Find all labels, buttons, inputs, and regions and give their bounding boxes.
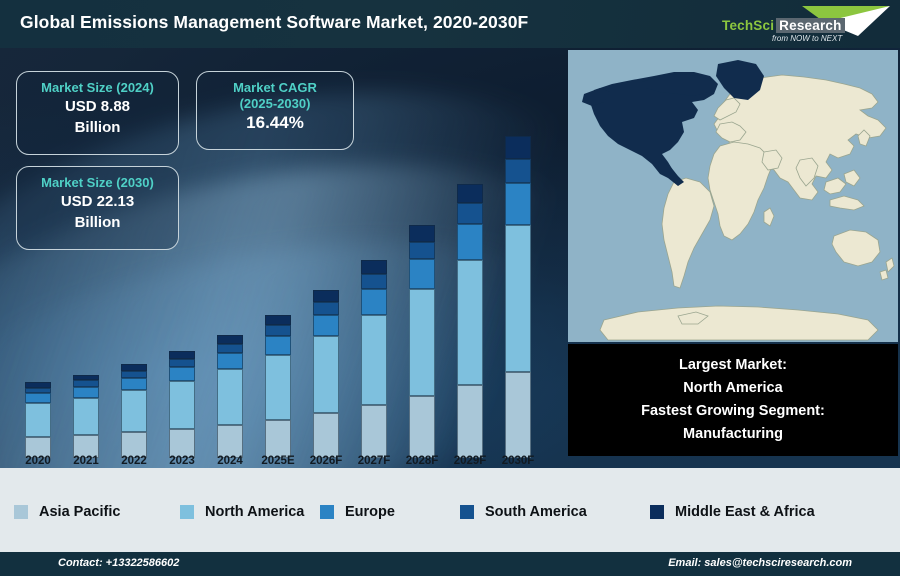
bar-segment[interactable] [169, 381, 195, 429]
bar-column[interactable] [121, 364, 147, 458]
legend-swatch-icon [650, 505, 664, 519]
logo-tagline: from NOW to NEXT [772, 34, 842, 43]
bar-segment[interactable] [25, 393, 51, 403]
logo-brand-research: Research [776, 18, 844, 33]
legend-label: Middle East & Africa [675, 504, 815, 520]
callout-largest-market-label: Largest Market: [679, 354, 787, 377]
world-map-icon [568, 50, 898, 342]
bar-segment[interactable] [73, 398, 99, 436]
bar-segment[interactable] [217, 335, 243, 344]
bar-segment[interactable] [169, 351, 195, 359]
bar-column[interactable] [409, 225, 435, 458]
bar-segment[interactable] [313, 413, 339, 458]
bar-segment[interactable] [361, 315, 387, 405]
kpi-value-amount: USD 8.88 [17, 96, 178, 117]
bar-segment[interactable] [457, 385, 483, 458]
x-axis-tick-label: 2026F [302, 455, 350, 467]
bar-segment[interactable] [217, 369, 243, 425]
bar-segment[interactable] [265, 355, 291, 420]
bar-segment[interactable] [217, 353, 243, 369]
bar-segment[interactable] [409, 259, 435, 289]
x-axis-tick-label: 2025E [254, 455, 302, 467]
kpi-value-cagr: 16.44% [197, 112, 353, 133]
chart-legend: Asia PacificNorth AmericaEuropeSouth Ame… [0, 488, 900, 536]
kpi-value-unit: Billion [17, 212, 178, 233]
x-axis-tick-label: 2021 [62, 455, 110, 467]
callout-fastest-segment-label: Fastest Growing Segment: [641, 400, 825, 423]
footer-contact: Contact: +13322586602 [58, 557, 179, 569]
bar-segment[interactable] [457, 203, 483, 224]
bar-segment[interactable] [505, 136, 531, 159]
bar-column[interactable] [73, 375, 99, 458]
bar-segment[interactable] [505, 225, 531, 372]
header-bar: Global Emissions Management Software Mar… [0, 0, 900, 48]
bar-column[interactable] [25, 382, 51, 458]
kpi-label-line2: (2025-2030) [197, 96, 353, 112]
bar-segment[interactable] [313, 302, 339, 315]
kpi-label-line1: Market CAGR [197, 80, 353, 96]
x-axis-tick-label: 2027F [350, 455, 398, 467]
bar-segment[interactable] [361, 274, 387, 289]
bar-segment[interactable] [265, 325, 291, 336]
x-axis-tick-label: 2024 [206, 455, 254, 467]
logo-wordmark: TechSciResearch [722, 18, 845, 33]
bar-segment[interactable] [361, 405, 387, 458]
legend-swatch-icon [14, 505, 28, 519]
page-title: Global Emissions Management Software Mar… [20, 12, 528, 33]
bar-segment[interactable] [457, 260, 483, 385]
bar-segment[interactable] [361, 260, 387, 274]
bar-column[interactable] [313, 290, 339, 458]
kpi-value-amount: USD 22.13 [17, 191, 178, 212]
x-axis-tick-label: 2020 [14, 455, 62, 467]
kpi-market-size-2030: Market Size (2030) USD 22.13 Billion [16, 166, 179, 250]
bar-segment[interactable] [121, 364, 147, 371]
kpi-label: Market Size (2024) [17, 80, 178, 96]
bar-column[interactable] [457, 184, 483, 458]
legend-label: Europe [345, 504, 395, 520]
footer-email: Email: sales@techsciresearch.com [668, 557, 852, 569]
bar-segment[interactable] [457, 224, 483, 259]
legend-swatch-icon [320, 505, 334, 519]
bar-segment[interactable] [169, 359, 195, 367]
key-findings-callout: Largest Market: North America Fastest Gr… [568, 344, 898, 456]
logo-brand-techsci: TechSci [722, 18, 774, 33]
legend-item-north-america[interactable]: North America [180, 504, 304, 520]
bar-segment[interactable] [121, 378, 147, 390]
legend-item-south-america[interactable]: South America [460, 504, 587, 520]
bar-segment[interactable] [409, 289, 435, 395]
bar-segment[interactable] [121, 390, 147, 432]
x-axis: 202020212022202320242025E2026F2027F2028F… [0, 455, 566, 477]
legend-item-middle-east-africa[interactable]: Middle East & Africa [650, 504, 815, 520]
bar-segment[interactable] [409, 242, 435, 260]
x-axis-tick-label: 2023 [158, 455, 206, 467]
techsci-research-logo: TechSciResearch from NOW to NEXT [714, 2, 894, 46]
bar-segment[interactable] [217, 425, 243, 458]
x-axis-tick-label: 2028F [398, 455, 446, 467]
legend-swatch-icon [460, 505, 474, 519]
kpi-label: Market Size (2030) [17, 175, 178, 191]
bar-segment[interactable] [505, 372, 531, 458]
kpi-value-unit: Billion [17, 117, 178, 138]
legend-item-asia-pacific[interactable]: Asia Pacific [14, 504, 120, 520]
bar-segment[interactable] [265, 420, 291, 458]
bar-segment[interactable] [265, 336, 291, 355]
bar-segment[interactable] [169, 429, 195, 458]
world-map [568, 50, 898, 342]
callout-fastest-segment-value: Manufacturing [683, 423, 783, 446]
x-axis-tick-label: 2030F [494, 455, 542, 467]
bar-segment[interactable] [457, 184, 483, 203]
bar-segment[interactable] [169, 367, 195, 381]
legend-label: North America [205, 504, 304, 520]
bar-segment[interactable] [505, 183, 531, 225]
bar-segment[interactable] [409, 225, 435, 242]
kpi-market-cagr: Market CAGR (2025-2030) 16.44% [196, 71, 354, 150]
x-axis-tick-label: 2029F [446, 455, 494, 467]
footer-bar: Contact: +13322586602 Email: sales@techs… [0, 552, 900, 576]
bar-segment[interactable] [409, 396, 435, 458]
bar-segment[interactable] [265, 315, 291, 325]
x-axis-tick-label: 2022 [110, 455, 158, 467]
bar-segment[interactable] [313, 290, 339, 302]
bar-segment[interactable] [25, 403, 51, 437]
bar-column[interactable] [361, 260, 387, 458]
infographic-root: Global Emissions Management Software Mar… [0, 0, 900, 576]
bar-segment[interactable] [361, 289, 387, 315]
legend-swatch-icon [180, 505, 194, 519]
bar-segment[interactable] [313, 336, 339, 413]
bar-segment[interactable] [73, 387, 99, 398]
bar-segment[interactable] [505, 159, 531, 183]
bar-segment[interactable] [217, 344, 243, 353]
legend-item-europe[interactable]: Europe [320, 504, 395, 520]
callout-largest-market-value: North America [683, 377, 782, 400]
legend-label: South America [485, 504, 587, 520]
legend-label: Asia Pacific [39, 504, 120, 520]
bar-column[interactable] [169, 351, 195, 458]
bar-segment[interactable] [121, 371, 147, 378]
bar-column[interactable] [265, 315, 291, 458]
bar-column[interactable] [505, 136, 531, 458]
kpi-market-size-2024: Market Size (2024) USD 8.88 Billion [16, 71, 179, 155]
bar-segment[interactable] [313, 315, 339, 337]
bar-column[interactable] [217, 335, 243, 458]
